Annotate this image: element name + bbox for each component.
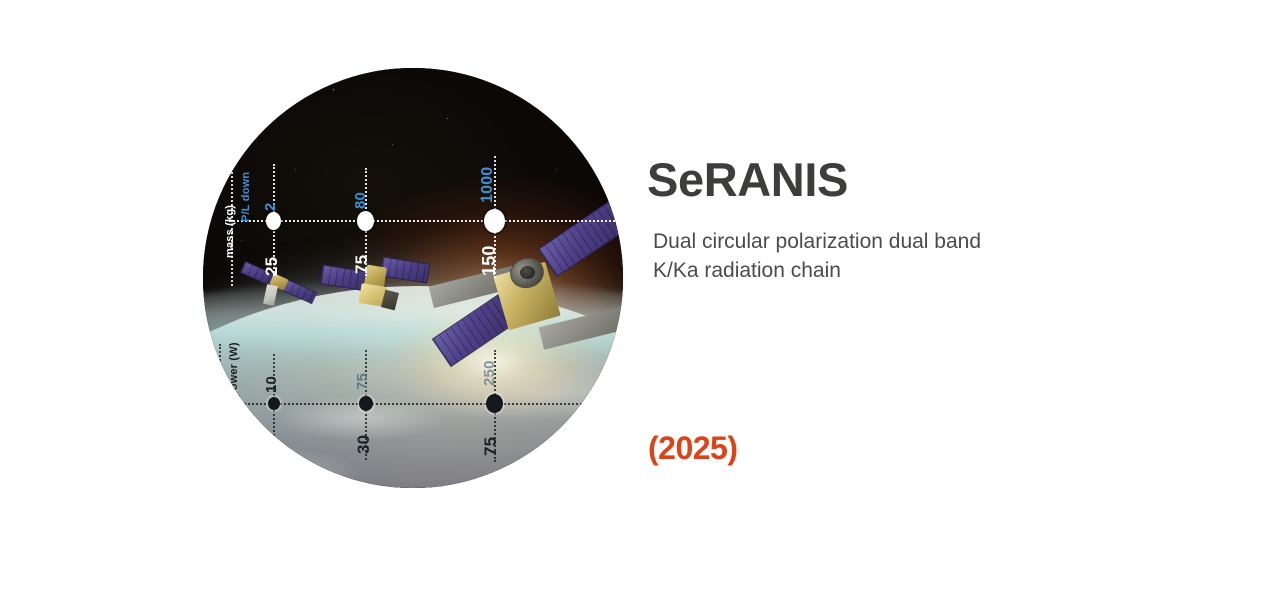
power-node-medium <box>359 396 373 411</box>
data-node-large <box>484 209 505 233</box>
value-mass-large: 150 <box>480 245 498 276</box>
circular-figure: mass (kg) P/L down 2 25 80 75 1000 150 P… <box>203 68 623 488</box>
page-subtitle: Dual circular polarization dual band K/K… <box>653 228 988 286</box>
value-pl-down-large: 1000 <box>480 167 496 203</box>
value-mass-medium: 75 <box>353 255 370 274</box>
axis-line-mass <box>229 220 619 222</box>
text-column: SeRANIS Dual circular polarization dual … <box>647 155 1207 286</box>
axis-start-cap-lower <box>219 344 221 464</box>
value-pl-down-small: 2 <box>263 202 278 211</box>
project-year: (2025) <box>648 430 738 467</box>
value-power-upper-small: 10 <box>264 376 279 393</box>
axis-label-mass: mass (kg) <box>225 205 236 258</box>
value-power-large: 75 <box>482 437 499 456</box>
power-node-large <box>486 394 503 413</box>
data-node-medium <box>357 211 374 231</box>
value-mass-small: 25 <box>263 257 280 276</box>
value-pl-down-medium: 80 <box>353 192 368 209</box>
value-power-medium: 30 <box>355 435 372 454</box>
power-node-small <box>268 397 280 410</box>
value-power-small: 6 <box>264 447 280 456</box>
axis-label-pl-downlink: P/L down <box>241 172 252 222</box>
value-power-upper-large: 250 <box>482 360 497 386</box>
page-title: SeRANIS <box>647 155 1207 204</box>
infographic-overlay: mass (kg) P/L down 2 25 80 75 1000 150 P… <box>203 68 623 488</box>
value-power-upper-medium: 75 <box>355 373 370 390</box>
data-node-small <box>266 212 281 230</box>
axis-label-pl-power: P/L power (W) <box>229 342 240 418</box>
